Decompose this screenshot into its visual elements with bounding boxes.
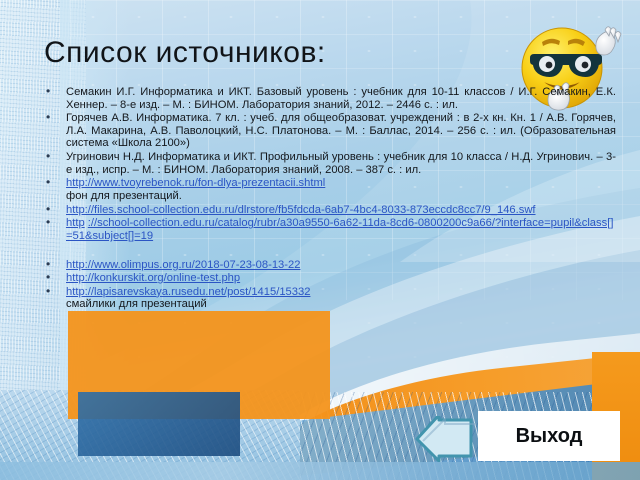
- exit-button[interactable]: Выход: [478, 411, 620, 461]
- presentation-slide: Список источников:: [0, 0, 640, 480]
- list-item-semakin: Семакин И.Г. Информатика и ИКТ. Базовый …: [36, 86, 616, 111]
- list-item-school-collection-files: http://files.school-collection.edu.ru/dl…: [36, 204, 616, 217]
- list-item-konkurskit: http://konkurskit.org/online-test.php: [36, 272, 616, 285]
- link-olimpus[interactable]: http://www.olimpus.org.ru/2018-07-23-08-…: [66, 259, 300, 271]
- list-item-goryachev: Горячев А.В. Информатика. 7 кл. : учеб. …: [36, 112, 616, 150]
- back-arrow-icon[interactable]: [415, 416, 479, 462]
- list-item-olimpus: http://www.olimpus.org.ru/2018-07-23-08-…: [36, 259, 616, 272]
- source-text-goryachev: Горячев А.В. Информатика. 7 кл. : учеб. …: [66, 112, 616, 150]
- sources-list-container: Семакин И.Г. Информатика и ИКТ. Базовый …: [36, 86, 616, 312]
- list-item-lapisarevskaya: http://lapisarevskaya.rusedu.net/post/14…: [36, 286, 616, 312]
- caption-lapisarevskaya: смайлики для презентаций: [66, 298, 616, 311]
- list-item-tvoyrebenok: http://www.tvoyrebenok.ru/fon-dlya-preze…: [36, 177, 616, 203]
- blue-highlight-block: [78, 392, 240, 456]
- source-text-semakin: Семакин И.Г. Информатика и ИКТ. Базовый …: [66, 86, 616, 111]
- link-school-collection-files[interactable]: http://files.school-collection.edu.ru/dl…: [66, 204, 536, 216]
- page-title: Список источников:: [44, 36, 326, 70]
- list-item-school-collection-catalog: http ://school-collection.edu.ru/catalog…: [36, 217, 616, 242]
- link-lapisarevskaya[interactable]: http://lapisarevskaya.rusedu.net/post/14…: [66, 286, 310, 298]
- sources-list: Семакин И.Г. Информатика и ИКТ. Базовый …: [36, 86, 616, 311]
- link-school-collection-catalog-prefix[interactable]: http: [66, 217, 85, 229]
- source-text-ugrinovich: Угринович Н.Д. Информатика и ИКТ. Профил…: [66, 151, 616, 176]
- link-school-collection-catalog-rest[interactable]: ://school-collection.edu.ru/catalog/rubr…: [66, 217, 613, 242]
- link-konkurskit[interactable]: http://konkurskit.org/online-test.php: [66, 272, 240, 284]
- caption-tvoyrebenok: фон для презентаций.: [66, 190, 616, 203]
- link-tvoyrebenok[interactable]: http://www.tvoyrebenok.ru/fon-dlya-preze…: [66, 177, 325, 189]
- list-item-ugrinovich: Угринович Н.Д. Информатика и ИКТ. Профил…: [36, 151, 616, 176]
